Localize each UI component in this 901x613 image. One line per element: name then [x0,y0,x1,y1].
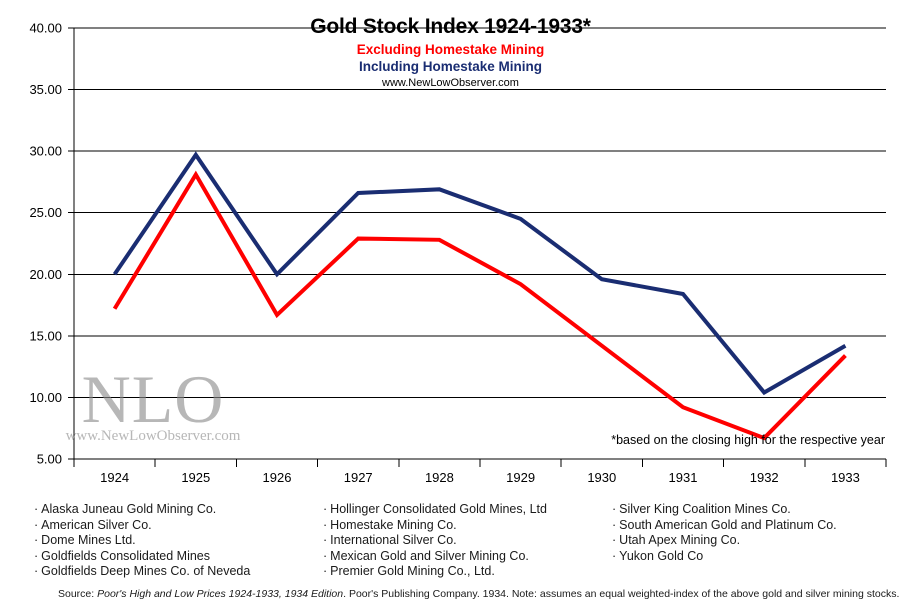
list-item: ·Utah Apex Mining Co. [612,533,901,549]
company-name: Goldfields Consolidated Mines [41,549,210,563]
company-column-1: ·Alaska Juneau Gold Mining Co. ·American… [34,502,323,580]
x-axis-label: 1931 [669,470,698,485]
company-name: Alaska Juneau Gold Mining Co. [41,502,216,516]
list-item: ·American Silver Co. [34,518,323,534]
company-name: Homestake Mining Co. [330,518,456,532]
company-name: Dome Mines Ltd. [41,533,135,547]
list-item: ·Goldfields Deep Mines Co. of Neveda [34,564,323,580]
company-column-3: ·Silver King Coalition Mines Co. ·South … [612,502,901,580]
series-line-including-homestake [115,155,846,393]
y-axis-label: 20.00 [29,267,62,282]
source-prefix: Source: [58,588,97,600]
company-name: Mexican Gold and Silver Mining Co. [330,549,529,563]
constituent-company-lists: ·Alaska Juneau Gold Mining Co. ·American… [0,502,901,580]
x-axis-label: 1932 [750,470,779,485]
company-name: Utah Apex Mining Co. [619,533,740,547]
source-title: Poor's High and Low Prices 1924-1933, 19… [97,588,343,600]
y-axis-label: 25.00 [29,205,62,220]
line-chart-svg: 5.0010.0015.0020.0025.0030.0035.0040.001… [0,0,901,495]
x-axis-label: 1925 [181,470,210,485]
company-name: Hollinger Consolidated Gold Mines, Ltd [330,502,547,516]
list-item: ·Yukon Gold Co [612,549,901,565]
list-item: ·Homestake Mining Co. [323,518,612,534]
y-axis-label: 30.00 [29,144,62,159]
x-axis-label: 1926 [263,470,292,485]
y-axis-label: 40.00 [29,21,62,36]
company-name: South American Gold and Platinum Co. [619,518,836,532]
list-item: ·Silver King Coalition Mines Co. [612,502,901,518]
x-axis-label: 1933 [831,470,860,485]
x-axis-label: 1928 [425,470,454,485]
list-item: ·Dome Mines Ltd. [34,533,323,549]
y-axis-label: 10.00 [29,390,62,405]
x-axis-label: 1930 [587,470,616,485]
y-axis-label: 15.00 [29,328,62,343]
source-citation: Source: Poor's High and Low Prices 1924-… [58,588,899,600]
company-name: Goldfields Deep Mines Co. of Neveda [41,564,250,578]
company-name: International Silver Co. [330,533,456,547]
company-name: Silver King Coalition Mines Co. [619,502,791,516]
company-name: Premier Gold Mining Co., Ltd. [330,564,495,578]
list-item: ·Premier Gold Mining Co., Ltd. [323,564,612,580]
list-item: ·Hollinger Consolidated Gold Mines, Ltd [323,502,612,518]
y-axis-label: 5.00 [37,452,62,467]
series-line-excluding-homestake [115,175,846,439]
chart-page: 5.0010.0015.0020.0025.0030.0035.0040.001… [0,0,901,613]
x-axis-label: 1924 [100,470,129,485]
company-column-2: ·Hollinger Consolidated Gold Mines, Ltd … [323,502,612,580]
source-suffix: . Poor's Publishing Company. 1934. Note:… [343,588,899,600]
chart-plot-region: 5.0010.0015.0020.0025.0030.0035.0040.001… [0,0,901,495]
company-name: Yukon Gold Co [619,549,703,563]
x-axis-label: 1929 [506,470,535,485]
list-item: ·Mexican Gold and Silver Mining Co. [323,549,612,565]
list-item: ·Alaska Juneau Gold Mining Co. [34,502,323,518]
chart-footnote: *based on the closing high for the respe… [611,433,885,447]
list-item: ·Goldfields Consolidated Mines [34,549,323,565]
list-item: ·International Silver Co. [323,533,612,549]
y-axis-label: 35.00 [29,82,62,97]
company-name: American Silver Co. [41,518,151,532]
list-item: ·South American Gold and Platinum Co. [612,518,901,534]
x-axis-label: 1927 [344,470,373,485]
